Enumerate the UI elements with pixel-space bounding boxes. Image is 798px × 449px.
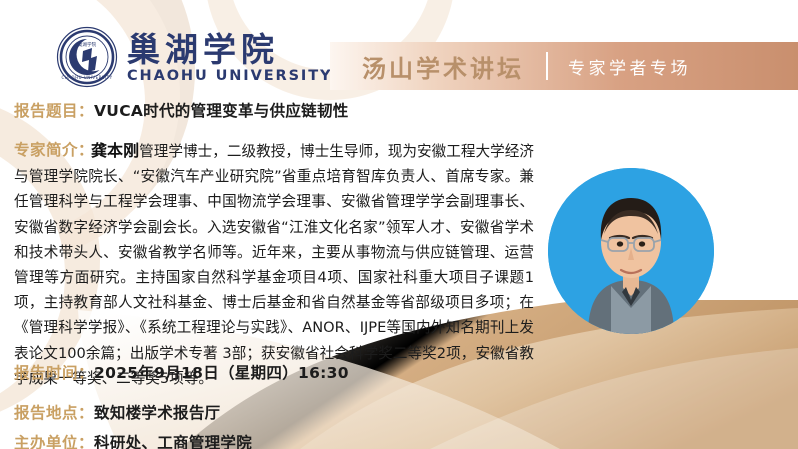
place-row: 报告地点： 致知楼学术报告厅	[14, 401, 220, 423]
svg-text:CHAOHU UNIVERSITY: CHAOHU UNIVERSITY	[61, 75, 112, 80]
speaker-portrait-photo	[548, 168, 714, 334]
place-label: 报告地点：	[14, 401, 94, 423]
seminar-poster: 巢湖学院 CHAOHU UNIVERSITY 巢湖学院 CHAOHU UNIVE…	[0, 0, 798, 449]
time-value: 2025年9月18日（星期四）16:30	[94, 361, 349, 383]
topic-label: 报告题目：	[14, 99, 94, 121]
place-value: 致知楼学术报告厅	[94, 401, 220, 423]
university-name-block: 巢湖学院 CHAOHU UNIVERSITY	[127, 32, 332, 85]
host-label: 主办单位：	[14, 431, 94, 449]
bio-label: 专家简介：	[14, 138, 94, 160]
university-seal-icon: 巢湖学院 CHAOHU UNIVERSITY	[56, 26, 118, 88]
university-name-en: CHAOHU UNIVERSITY	[127, 68, 332, 84]
time-label: 报告时间：	[14, 361, 94, 383]
topic-row: 报告题目： VUCA时代的管理变革与供应链韧性	[14, 99, 349, 121]
speaker-name: 龚本刚	[91, 141, 139, 160]
bio-body-text: 管理学博士，二级教授，博士生导师，现为安徽工程大学经济与管理学院院长、“安徽汽车…	[14, 143, 534, 387]
forum-banner-title: 汤山学术讲坛	[362, 49, 524, 84]
bio-paragraph: 龚本刚管理学博士，二级教授，博士生导师，现为安徽工程大学经济与管理学院院长、“安…	[14, 138, 534, 391]
banner-divider	[546, 52, 548, 80]
time-row: 报告时间： 2025年9月18日（星期四）16:30	[14, 361, 349, 383]
host-value: 科研处、工商管理学院	[94, 431, 252, 449]
university-logo-block: 巢湖学院 CHAOHU UNIVERSITY 巢湖学院 CHAOHU UNIVE…	[56, 26, 332, 88]
university-name-cn: 巢湖学院	[127, 32, 332, 68]
svg-text:巢湖学院: 巢湖学院	[78, 41, 97, 48]
topic-value: VUCA时代的管理变革与供应链韧性	[94, 99, 349, 121]
host-row: 主办单位： 科研处、工商管理学院	[14, 431, 252, 449]
forum-banner-subtitle: 专家学者专场	[568, 54, 691, 79]
forum-banner: 汤山学术讲坛 专家学者专场	[330, 42, 798, 90]
speaker-portrait	[548, 168, 714, 334]
speaker-bio-block: 专家简介： 龚本刚管理学博士，二级教授，博士生导师，现为安徽工程大学经济与管理学…	[14, 138, 534, 391]
